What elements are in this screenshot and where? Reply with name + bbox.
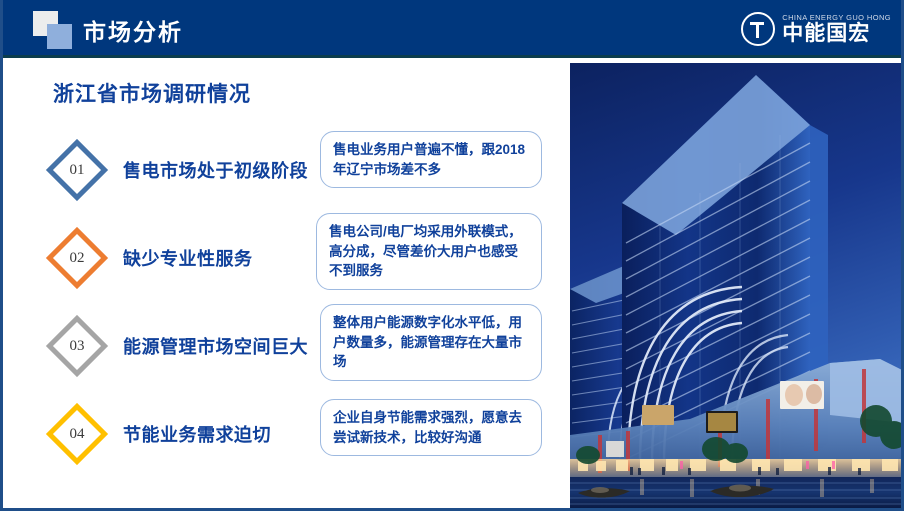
item-note-bubble: 企业自身节能需求强烈，愿意去尝试新技术，比较好沟通 xyxy=(320,399,542,456)
diamond-badge-icon: 01 xyxy=(45,138,109,202)
header-decor-icons xyxy=(33,11,83,49)
company-logo: CHINA ENERGY GUO HONG 中能国宏 xyxy=(741,8,891,50)
item-number: 04 xyxy=(45,402,109,466)
logo-chinese-name: 中能国宏 xyxy=(782,23,891,44)
slide-market-analysis: 市场分析 CHINA ENERGY GUO HONG 中能国宏 浙江省市场调研情… xyxy=(0,0,904,511)
item-label: 缺少专业性服务 xyxy=(123,245,253,271)
photo-artwork xyxy=(570,63,904,508)
diamond-badge-icon: 02 xyxy=(45,226,109,290)
logo-text: CHINA ENERGY GUO HONG 中能国宏 xyxy=(782,14,891,45)
square-icon-blue xyxy=(47,24,72,49)
slide-header: 市场分析 CHINA ENERGY GUO HONG 中能国宏 xyxy=(3,0,904,58)
item-label: 节能业务需求迫切 xyxy=(123,421,271,447)
item-number: 01 xyxy=(45,138,109,202)
item-number: 02 xyxy=(45,226,109,290)
item-label: 能源管理市场空间巨大 xyxy=(123,333,308,359)
logo-english-name: CHINA ENERGY GUO HONG xyxy=(782,14,891,22)
item-note-bubble: 售电业务用户普遍不懂，跟2018年辽宁市场差不多 xyxy=(320,131,542,188)
header-title: 市场分析 xyxy=(83,13,183,47)
diamond-badge-icon: 03 xyxy=(45,314,109,378)
page-title: 浙江省市场调研情况 xyxy=(53,78,251,108)
item-number: 03 xyxy=(45,314,109,378)
skyscraper-commercial-complex-photo xyxy=(570,63,904,508)
item-note-bubble: 售电公司/电厂均采用外联模式，高分成，尽管差价大用户也感受不到服务 xyxy=(316,213,542,290)
diamond-badge-icon: 04 xyxy=(45,402,109,466)
circle-g-logo-icon xyxy=(741,12,775,46)
item-label: 售电市场处于初级阶段 xyxy=(123,157,308,183)
item-note-bubble: 整体用户能源数字化水平低，用户数量多，能源管理存在大量市场 xyxy=(320,304,542,381)
